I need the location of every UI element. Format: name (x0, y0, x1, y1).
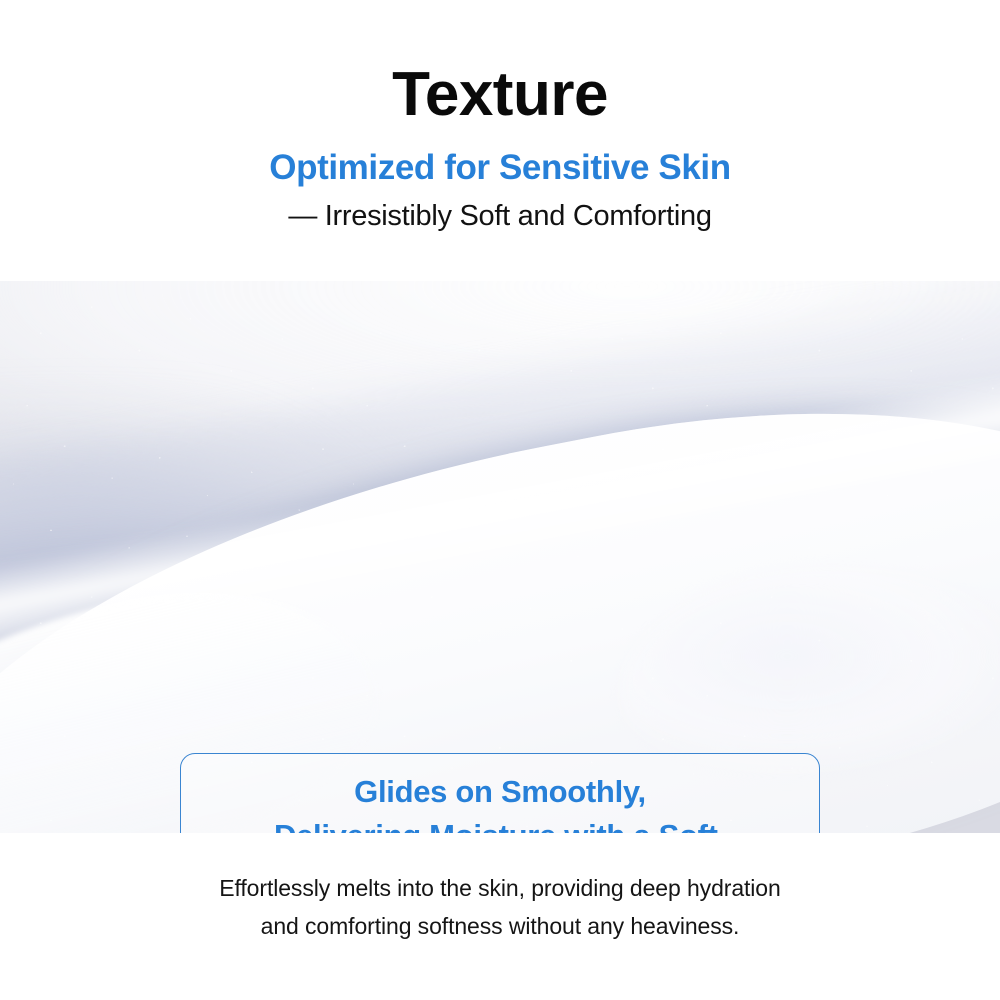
page-title: Texture (0, 0, 1000, 127)
cream-texture-photo: Glides on Smoothly, Delivering Moisture … (0, 281, 1000, 833)
footer-section: Effortlessly melts into the skin, provid… (0, 833, 1000, 1000)
benefit-callout-box: Glides on Smoothly, Delivering Moisture … (180, 753, 820, 833)
texture-product-panel: Texture Optimized for Sensitive Skin — I… (0, 0, 1000, 1000)
callout-line-2: Delivering Moisture with a Soft, (274, 814, 726, 833)
header-tagline: — Irresistibly Soft and Comforting (0, 188, 1000, 233)
footer-line-2: and comforting softness without any heav… (0, 908, 1000, 946)
footer-line-1: Effortlessly melts into the skin, provid… (0, 833, 1000, 908)
header-section: Texture Optimized for Sensitive Skin — I… (0, 0, 1000, 281)
header-subtitle: Optimized for Sensitive Skin (0, 127, 1000, 188)
callout-line-1: Glides on Smoothly, (354, 770, 646, 814)
photo-speckle-overlay (0, 281, 1000, 833)
